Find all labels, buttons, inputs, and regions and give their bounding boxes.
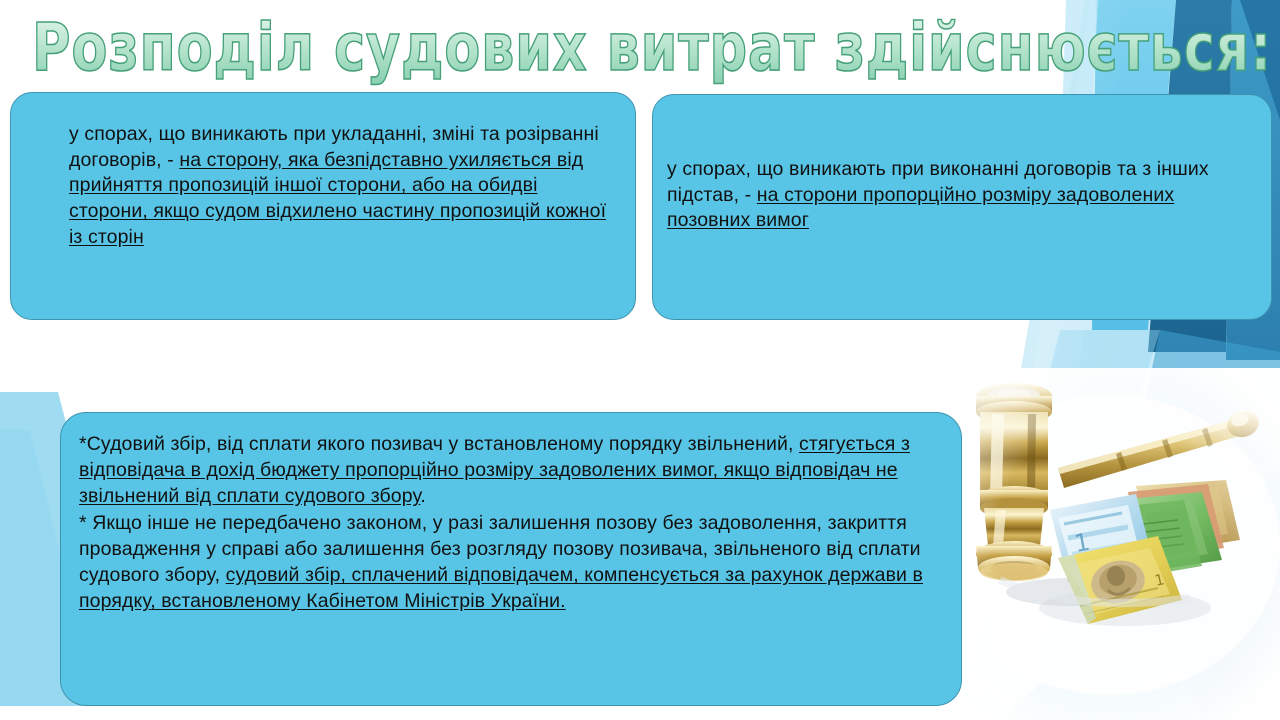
page-title-svg: Розподіл судових витрат здійснюється:: [0, 0, 1280, 92]
gavel-and-money-photo: 1 1: [940, 368, 1280, 720]
footnotes-box: *Судовий збір, від сплати якого позивач …: [60, 412, 962, 706]
claim-conclusion-text: у спорах, що виникають при укладанні, зм…: [69, 122, 609, 251]
claim-performance-box: у спорах, що виникають при виконанні дог…: [652, 94, 1272, 320]
page-title: Розподіл судових витрат здійснюється:: [0, 0, 1280, 92]
footnote-paragraph-1: *Судовий збір, від сплати якого позивач …: [79, 431, 951, 510]
gavel-and-money-svg: 1 1: [940, 368, 1280, 720]
claim-performance-text: у спорах, що виникають при виконанні дог…: [667, 157, 1247, 234]
footnote-paragraph-2: * Якщо інше не передбачено законом, у ра…: [79, 510, 951, 615]
claim-conclusion-box: у спорах, що виникають при укладанні, зм…: [10, 92, 636, 320]
page-title-label: Розподіл судових витрат здійснюється:: [32, 9, 1272, 86]
footnotes-text: *Судовий збір, від сплати якого позивач …: [79, 431, 951, 615]
text-period: .: [420, 485, 426, 507]
slide-root: Розподіл судових витрат здійснюється: у …: [0, 0, 1280, 720]
text-plain: *Судовий збір, від сплати якого позивач …: [79, 433, 799, 455]
